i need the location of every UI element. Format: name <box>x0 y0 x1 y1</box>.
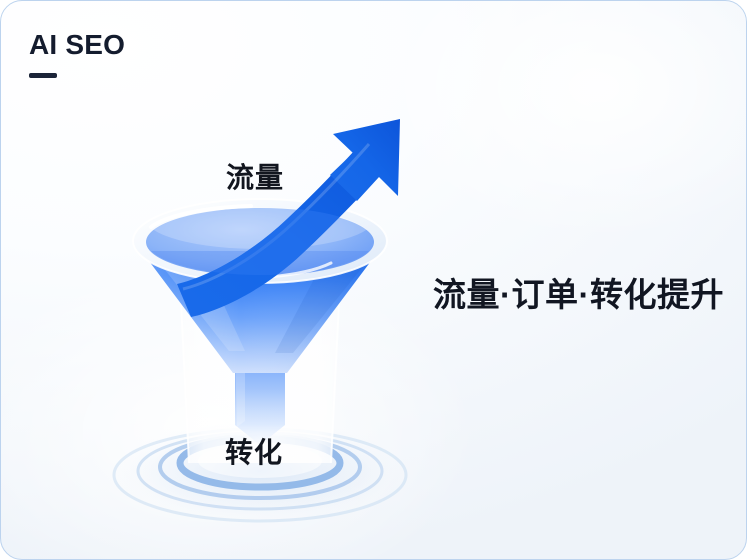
headline-text: 流量·订单·转化提升 <box>433 277 724 313</box>
title-underline <box>29 73 57 78</box>
funnel-label-conversion: 转化 <box>225 431 283 471</box>
ai-seo-banner-card: AI SEO 流量·订单·转化提升 流量 转化 <box>0 0 747 560</box>
funnel-label-traffic: 流量 <box>226 156 284 196</box>
page-title: AI SEO <box>29 31 125 59</box>
title-block: AI SEO <box>29 31 125 78</box>
